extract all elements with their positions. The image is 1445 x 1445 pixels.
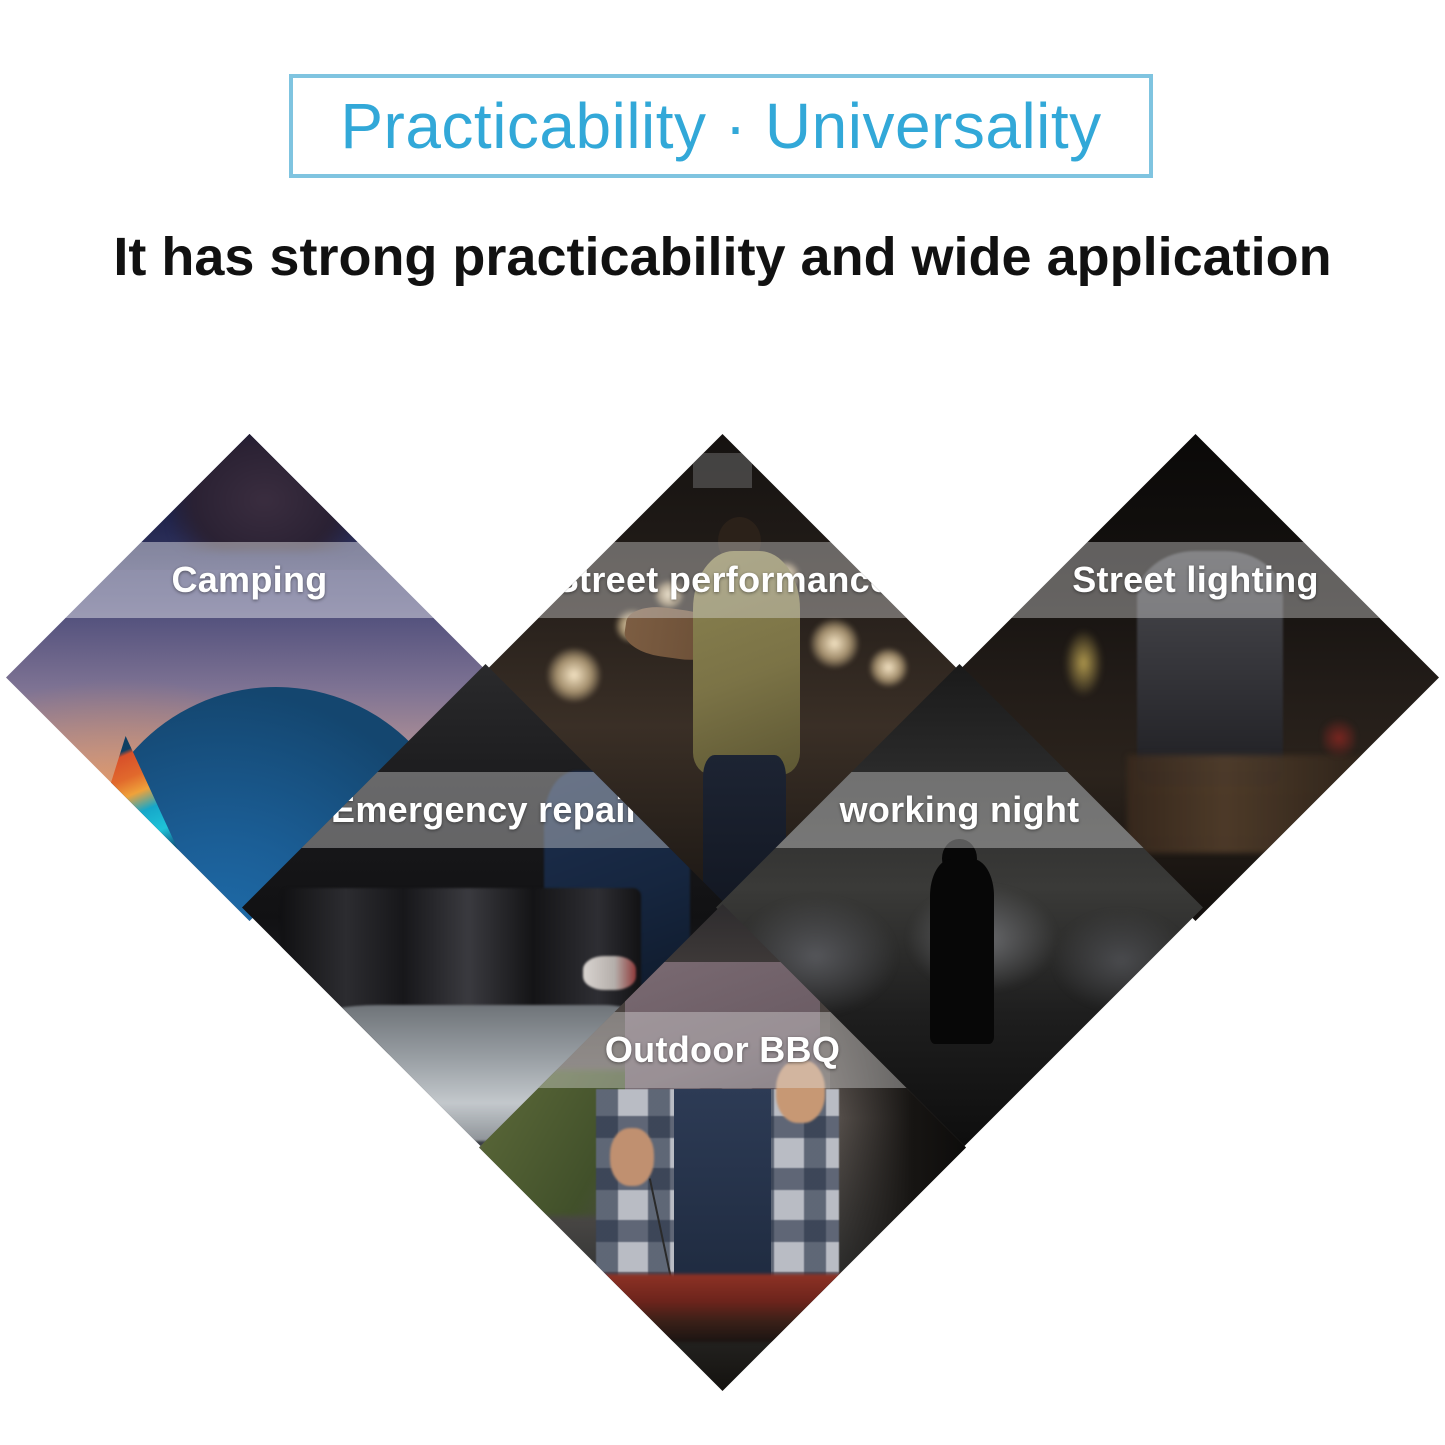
performer-torso [693,551,800,775]
worker-silhouette [930,859,993,1044]
mechanic-shoe [583,956,637,990]
page-title: Practicability · Universality [340,94,1101,158]
lamp-glow [1064,629,1103,697]
usage-scenario-collage: Camping Street performance [0,420,1445,1430]
bokeh-light [810,619,859,668]
product-feature-page: Practicability · Universality It has str… [0,0,1445,1445]
bokeh-light [869,648,908,687]
bokeh-light [654,580,683,609]
bokeh-light [547,648,601,702]
camping-foliage [172,434,357,551]
page-subtitle: It has strong practicability and wide ap… [0,228,1445,287]
market-goods [1127,755,1371,852]
street-sign [693,453,751,487]
grill-with-food [586,1274,859,1342]
header-title-box: Practicability · Universality [289,74,1153,178]
apron [674,1089,771,1284]
market-drape [1137,551,1283,785]
griller-right-hand [776,1060,825,1123]
red-accent [1322,716,1356,760]
griller-left-hand [610,1128,654,1186]
